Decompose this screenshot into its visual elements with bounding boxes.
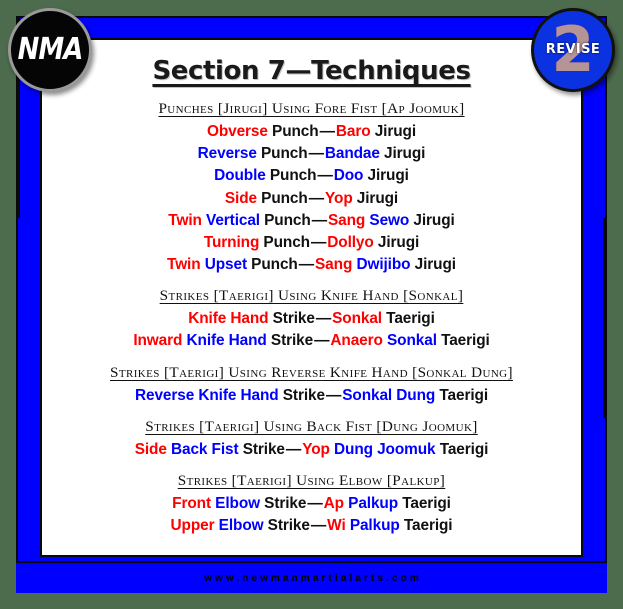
technique-line: Side Punch—Yop Jirugi (48, 188, 575, 210)
technique-text-segment: Reverse Knife Hand (135, 387, 279, 404)
technique-text-segment: Strike (264, 517, 310, 534)
technique-text-segment: Punch (266, 167, 317, 184)
technique-text-segment: Strike (260, 495, 306, 512)
technique-text-segment: Elbow (215, 495, 260, 512)
technique-line: Upper Elbow Strike—Wi Palkup Taerigi (48, 515, 575, 537)
technique-text-segment: Palkup (348, 495, 398, 512)
technique-text-segment: Vertical (206, 212, 260, 229)
footer-bar: www.newmanmartialarts.com (16, 561, 607, 593)
technique-text-segment: Taerigi (398, 495, 451, 512)
technique-text-segment: Yop (325, 190, 353, 207)
technique-text-segment: Jirugi (363, 167, 408, 184)
technique-text-segment: Dollyo (327, 234, 373, 251)
technique-text-segment: Jirugi (410, 256, 455, 273)
technique-text-segment: Dung Joomuk (334, 441, 436, 458)
technique-text-segment: Sonkal (332, 310, 382, 327)
technique-text-segment: Elbow (219, 517, 264, 534)
technique-text-segment: Knife Hand (187, 332, 267, 349)
technique-text-segment: Twin (168, 212, 202, 229)
technique-text-segment: Front (172, 495, 211, 512)
technique-text-segment: Punch (257, 190, 308, 207)
technique-text-segment: Side (135, 441, 167, 458)
technique-text-segment: Dwijibo (356, 256, 410, 273)
revise-badge: 2 2 REVISE (531, 8, 615, 92)
technique-line: Knife Hand Strike—Sonkal Taerigi (48, 308, 575, 330)
technique-text-segment: — (306, 495, 323, 512)
technique-text-segment: Sang (328, 212, 365, 229)
technique-text-segment: Jirugi (380, 145, 425, 162)
technique-text-segment: Jirugi (374, 234, 419, 251)
technique-text-segment: Strike (279, 387, 325, 404)
techniques-content: Punches [Jirugi] Using Fore Fist [Ap Joo… (42, 100, 581, 537)
technique-text-segment: Jirugi (409, 212, 454, 229)
technique-text-segment: Twin (167, 256, 201, 273)
technique-line: Obverse Punch—Baro Jirugi (48, 121, 575, 143)
technique-text-segment: Punch (247, 256, 298, 273)
technique-text-segment: Strike (268, 310, 314, 327)
technique-text-segment: Taerigi (437, 332, 490, 349)
section-heading: Strikes [Taerigi] Using Reverse Knife Ha… (48, 364, 575, 382)
technique-text-segment: — (285, 441, 302, 458)
technique-text-segment: Ap (324, 495, 344, 512)
technique-text-segment: Inward (133, 332, 182, 349)
technique-text-segment: — (325, 387, 342, 404)
technique-text-segment: Obverse (207, 123, 268, 140)
technique-line: Twin Vertical Punch—Sang Sewo Jirugi (48, 210, 575, 232)
technique-text-segment: Jirugi (371, 123, 416, 140)
technique-line: Twin Upset Punch—Sang Dwijibo Jirugi (48, 254, 575, 276)
website-url: www.newmanmartialarts.com (201, 573, 422, 584)
technique-line: Double Punch—Doo Jirugi (48, 165, 575, 187)
technique-text-segment: Sonkal (387, 332, 437, 349)
technique-text-segment: Punch (268, 123, 319, 140)
technique-text-segment: — (310, 234, 327, 251)
technique-text-segment: Turning (204, 234, 259, 251)
technique-line: Reverse Punch—Bandae Jirugi (48, 143, 575, 165)
technique-text-segment: Jirugi (353, 190, 398, 207)
technique-text-segment: Sonkal Dung (342, 387, 435, 404)
technique-text-segment: — (313, 332, 330, 349)
technique-text-segment: — (308, 190, 325, 207)
technique-text-segment: Upper (171, 517, 215, 534)
technique-section: Strikes [Taerigi] Using Knife Hand [Sonk… (48, 287, 575, 352)
section-heading: Punches [Jirugi] Using Fore Fist [Ap Joo… (48, 100, 575, 118)
technique-line: Turning Punch—Dollyo Jirugi (48, 232, 575, 254)
technique-line: Inward Knife Hand Strike—Anaero Sonkal T… (48, 330, 575, 352)
nma-logo-text: NMA (18, 33, 83, 68)
technique-text-segment: Doo (334, 167, 364, 184)
badge-revise-label: REVISE (534, 42, 612, 57)
technique-text-segment: Sang (315, 256, 352, 273)
technique-text-segment: Wi (327, 517, 345, 534)
technique-section: Strikes [Taerigi] Using Back Fist [Dung … (48, 418, 575, 461)
technique-text-segment: Bandae (325, 145, 380, 162)
technique-line: Front Elbow Strike—Ap Palkup Taerigi (48, 493, 575, 515)
technique-text-segment: Taerigi (400, 517, 453, 534)
technique-text-segment: — (298, 256, 315, 273)
technique-text-segment: Punch (257, 145, 308, 162)
section-heading: Strikes [Taerigi] Using Back Fist [Dung … (48, 418, 575, 436)
technique-text-segment: — (311, 212, 328, 229)
technique-text-segment: Punch (260, 212, 311, 229)
technique-text-segment: Side (225, 190, 257, 207)
section-heading: Strikes [Taerigi] Using Elbow [Palkup] (48, 472, 575, 490)
technique-text-segment: Sewo (369, 212, 409, 229)
technique-text-segment: Back Fist (171, 441, 239, 458)
technique-text-segment: — (316, 167, 333, 184)
technique-text-segment: Taerigi (382, 310, 435, 327)
technique-text-segment: — (308, 145, 325, 162)
technique-text-segment: Reverse (198, 145, 257, 162)
technique-section: Strikes [Taerigi] Using Elbow [Palkup]Fr… (48, 472, 575, 537)
section-heading: Strikes [Taerigi] Using Knife Hand [Sonk… (48, 287, 575, 305)
technique-line: Side Back Fist Strike—Yop Dung Joomuk Ta… (48, 439, 575, 461)
technique-text-segment: Yop (302, 441, 330, 458)
poster-frame: Section 7—Techniques Punches [Jirugi] Us… (16, 16, 607, 593)
technique-section: Punches [Jirugi] Using Fore Fist [Ap Joo… (48, 100, 575, 276)
technique-section: Strikes [Taerigi] Using Reverse Knife Ha… (48, 364, 575, 407)
technique-text-segment: — (319, 123, 336, 140)
technique-line: Reverse Knife Hand Strike—Sonkal Dung Ta… (48, 385, 575, 407)
technique-text-segment: Punch (259, 234, 310, 251)
technique-text-segment: Anaero (330, 332, 382, 349)
technique-text-segment: Taerigi (435, 387, 488, 404)
technique-text-segment: Palkup (350, 517, 400, 534)
technique-text-segment: Upset (205, 256, 247, 273)
technique-text-segment: Knife Hand (188, 310, 268, 327)
technique-text-segment: Baro (336, 123, 371, 140)
technique-text-segment: Strike (267, 332, 313, 349)
technique-text-segment: Taerigi (436, 441, 489, 458)
page-title: Section 7—Techniques (42, 56, 581, 86)
nma-logo-icon: NMA (8, 8, 92, 92)
technique-text-segment: Double (214, 167, 266, 184)
technique-text-segment: — (315, 310, 332, 327)
technique-text-segment: — (310, 517, 327, 534)
poster-page: Section 7—Techniques Punches [Jirugi] Us… (40, 38, 583, 557)
technique-text-segment: Strike (239, 441, 285, 458)
